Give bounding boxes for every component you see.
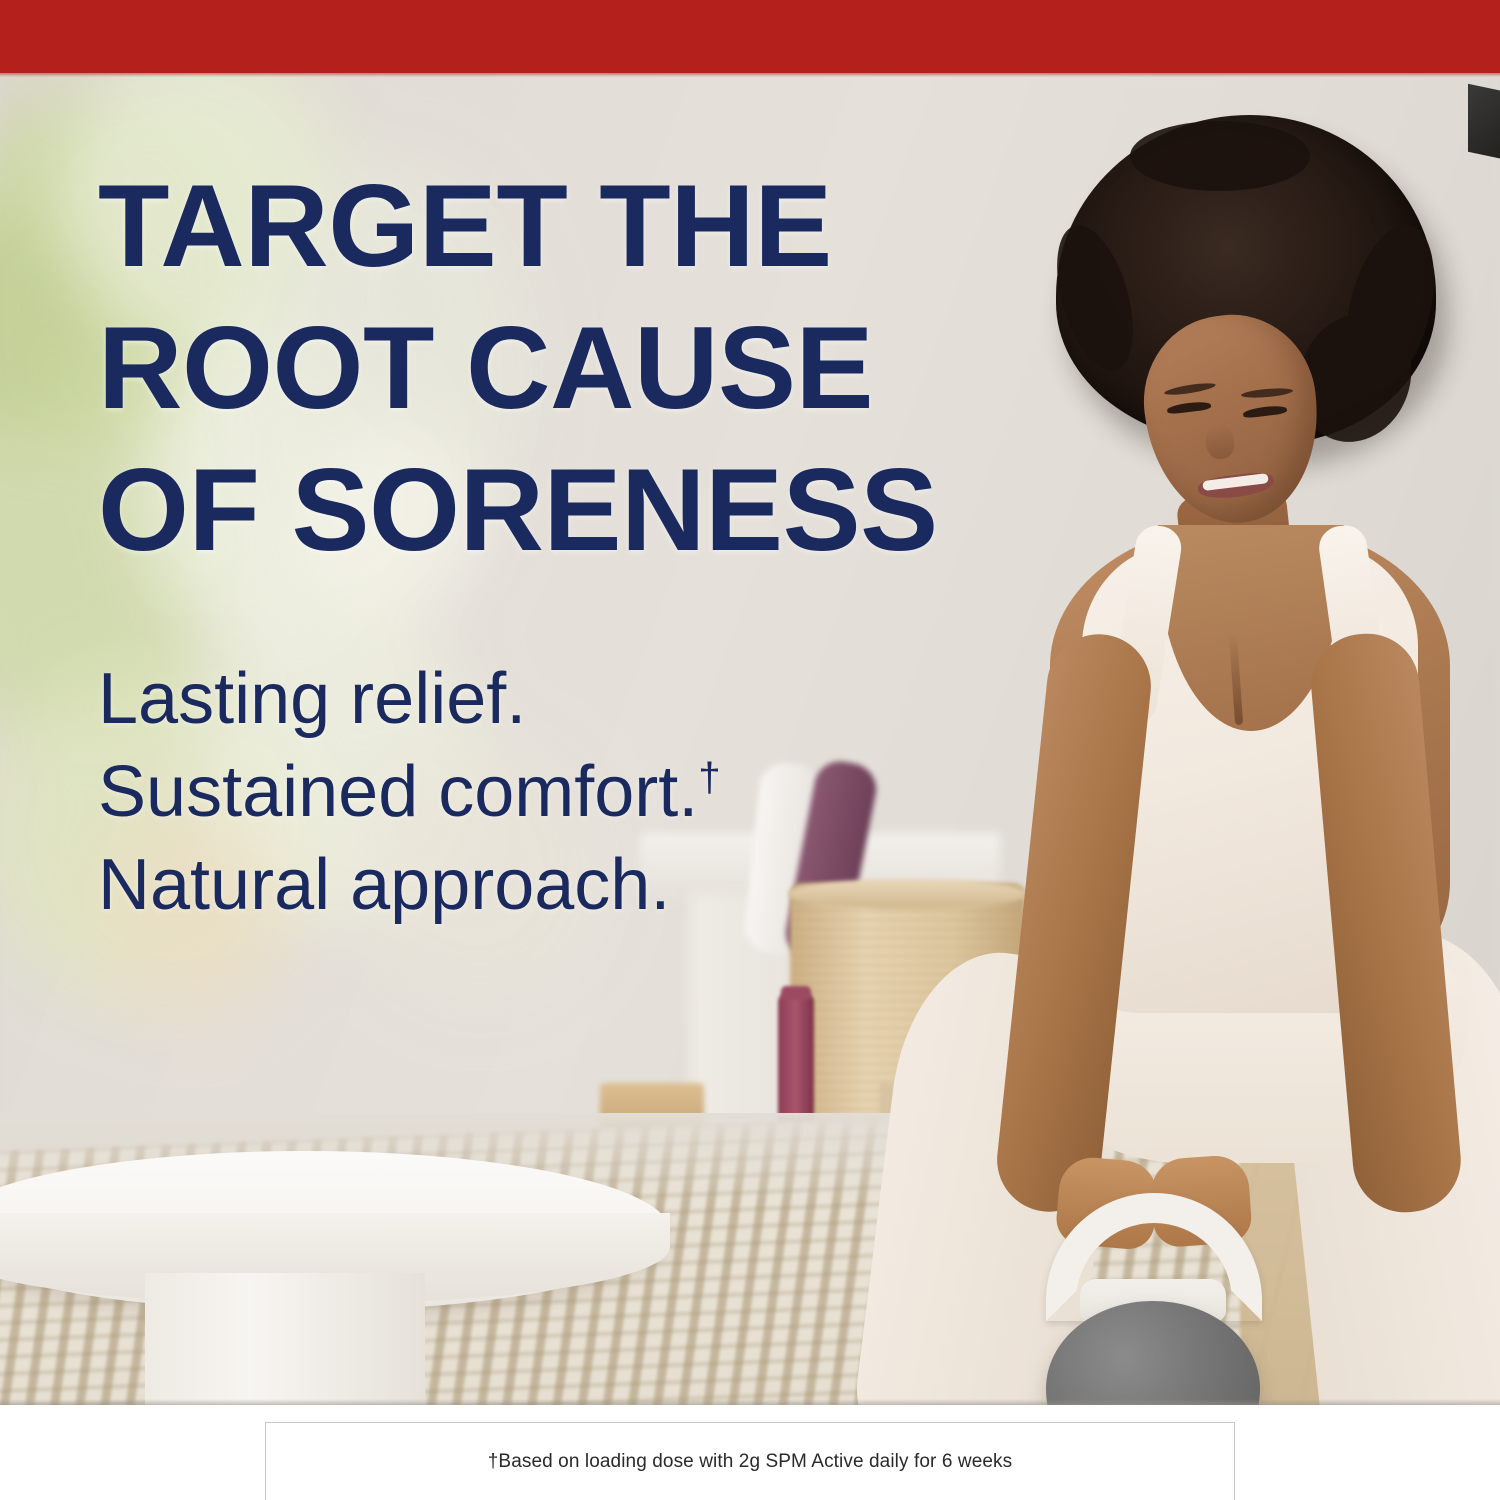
subheadline: Lasting relief. Sustained comfort.† Natu… [98,581,998,932]
dark-frame-corner [1468,84,1500,161]
page-title: TARGET THE ROOT CAUSE OF SORENESS [98,155,998,581]
footnote-text: †Based on loading dose with 2g SPM Activ… [488,1451,1012,1473]
subheadline-line-2: Sustained comfort.† [98,746,998,839]
footnote-area: †Based on loading dose with 2g SPM Activ… [0,1405,1500,1500]
copy-block: TARGET THE ROOT CAUSE OF SORENESS Lastin… [98,155,998,932]
top-accent-bar [0,0,1500,73]
marketing-banner: TARGET THE ROOT CAUSE OF SORENESS Lastin… [0,0,1500,1500]
headline-line-2: ROOT CAUSE [98,297,998,439]
top-accent-bar-shadow [0,73,1500,77]
subheadline-line-3: Natural approach. [98,839,998,932]
headline-line-1: TARGET THE [98,155,998,297]
dagger-symbol: † [698,754,720,800]
subheadline-line-1: Lasting relief. [98,653,998,746]
footnote-box: †Based on loading dose with 2g SPM Activ… [265,1422,1235,1500]
headline-line-3: OF SORENESS [98,439,998,581]
subheadline-line-2-text: Sustained comfort. [98,752,698,832]
